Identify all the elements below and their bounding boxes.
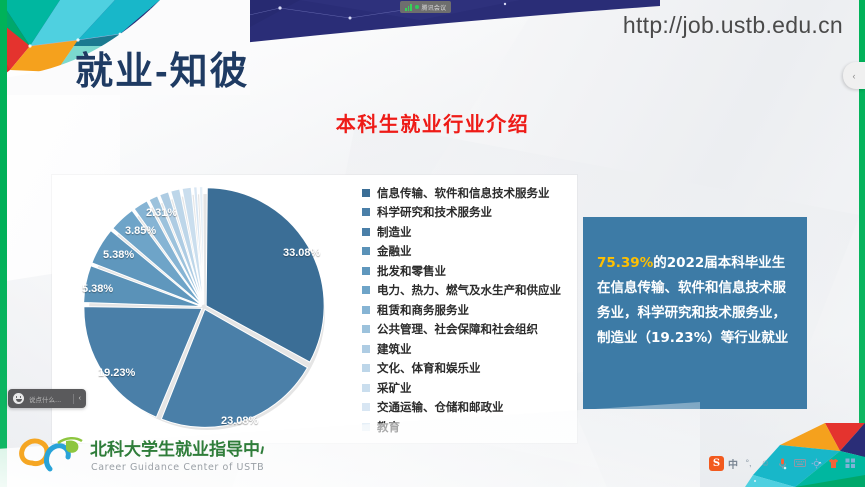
legend-label: 批发和零售业	[377, 263, 446, 279]
sogou-ime-toolbar[interactable]: S 中 °, ☺	[707, 454, 859, 472]
presentation-slide: 就业-知彼 http://job.ustb.edu.cn 本科生就业行业介绍 3…	[0, 0, 865, 487]
summary-callout: 75.39%的2022届本科毕业生在信息传输、软件和信息技术服务业，科学研究和技…	[583, 217, 807, 409]
legend-swatch-icon	[362, 384, 370, 392]
callout-text: 75.39%的2022届本科毕业生在信息传输、软件和信息技术服务业，科学研究和技…	[597, 251, 795, 351]
pie-slice-label: 23.08%	[221, 415, 258, 427]
legend-swatch-icon	[362, 403, 370, 411]
pie-slice-label: 2.31%	[146, 207, 177, 219]
chart-legend: 信息传输、软件和信息技术服务业科学研究和技术服务业制造业金融业批发和零售业电力、…	[362, 183, 577, 437]
ime-menu-icon[interactable]	[844, 457, 857, 470]
ime-punctuation-icon[interactable]: °,	[742, 457, 755, 470]
legend-item: 信息传输、软件和信息技术服务业	[362, 183, 577, 203]
legend-swatch-icon	[362, 306, 370, 314]
legend-label: 公共管理、社会保障和社会组织	[377, 321, 538, 337]
logo-cn-text: 北科大学生就业指导中心	[90, 439, 264, 460]
chart-panel: 33.08%23.08%19.23%5.38%5.38%3.85%2.31% 信…	[52, 175, 577, 443]
ime-emoji-icon[interactable]: ☺	[759, 457, 772, 470]
callout-highlight: 75.39%	[597, 255, 653, 271]
legend-label: 文化、体育和娱乐业	[377, 360, 481, 376]
logo-en-text: Career Guidance Center of USTB	[91, 462, 264, 473]
pie-chart: 33.08%23.08%19.23%5.38%5.38%3.85%2.31%	[62, 181, 362, 439]
meeting-label: 腾讯会议	[422, 3, 447, 12]
legend-item: 文化、体育和娱乐业	[362, 359, 577, 379]
site-url: http://job.ustb.edu.cn	[623, 12, 843, 39]
ime-skin-icon[interactable]	[827, 457, 840, 470]
legend-label: 金融业	[377, 243, 412, 259]
recording-dot-icon	[415, 5, 419, 9]
legend-item: 批发和零售业	[362, 261, 577, 281]
section-title: 本科生就业行业介绍	[0, 108, 865, 137]
legend-swatch-icon	[362, 189, 370, 197]
ime-settings-icon[interactable]	[810, 457, 823, 470]
ime-keyboard-icon[interactable]	[793, 457, 806, 470]
legend-swatch-icon	[362, 345, 370, 353]
sogou-logo-icon[interactable]: S	[709, 456, 724, 471]
legend-label: 交通运输、仓储和邮政业	[377, 399, 504, 415]
legend-label: 采矿业	[377, 380, 412, 396]
ime-language-mode-icon[interactable]: 中	[728, 456, 738, 471]
legend-swatch-icon	[362, 247, 370, 255]
ime-mic-icon[interactable]	[776, 457, 789, 470]
legend-label: 制造业	[377, 224, 412, 240]
legend-label: 科学研究和技术服务业	[377, 204, 492, 220]
legend-item: 科学研究和技术服务业	[362, 203, 577, 223]
legend-label: 信息传输、软件和信息技术服务业	[377, 185, 550, 201]
legend-item: 采矿业	[362, 378, 577, 398]
chat-placeholder[interactable]: 说点什么...	[29, 394, 73, 404]
left-green-edge	[0, 0, 7, 487]
pie-slice-label: 33.08%	[283, 247, 320, 259]
legend-label: 租赁和商务服务业	[377, 302, 469, 318]
legend-swatch-icon	[362, 228, 370, 236]
page-title: 就业-知彼	[75, 40, 250, 95]
legend-swatch-icon	[362, 267, 370, 275]
legend-item: 公共管理、社会保障和社会组织	[362, 320, 577, 340]
chat-input-bar[interactable]: 说点什么... ‹	[8, 389, 86, 408]
pie-slice-label: 5.38%	[103, 249, 134, 261]
legend-swatch-icon	[362, 208, 370, 216]
legend-label: 电力、热力、燃气及水生产和供应业	[377, 282, 561, 298]
legend-item: 建筑业	[362, 339, 577, 359]
chevron-left-icon: ‹	[853, 71, 856, 81]
signal-bars-icon	[405, 4, 412, 11]
organization-logo: 北科大学生就业指导中心 Career Guidance Center of US…	[14, 429, 264, 481]
legend-item: 租赁和商务服务业	[362, 300, 577, 320]
pie-slice-label: 19.23%	[98, 367, 135, 379]
sidebar-expand-tab[interactable]: ‹	[843, 62, 865, 89]
legend-item: 电力、热力、燃气及水生产和供应业	[362, 281, 577, 301]
emoji-icon[interactable]	[13, 393, 24, 404]
pie-slice-label: 5.38%	[82, 283, 113, 295]
pie-slice-label: 3.85%	[125, 225, 156, 237]
meeting-status-badge[interactable]: 腾讯会议	[400, 1, 451, 13]
legend-item: 制造业	[362, 222, 577, 242]
collapse-chevron-icon[interactable]: ‹	[74, 395, 86, 402]
legend-swatch-icon	[362, 364, 370, 372]
legend-label: 建筑业	[377, 341, 412, 357]
legend-swatch-icon	[362, 325, 370, 333]
legend-swatch-icon	[362, 286, 370, 294]
legend-item: 金融业	[362, 242, 577, 262]
